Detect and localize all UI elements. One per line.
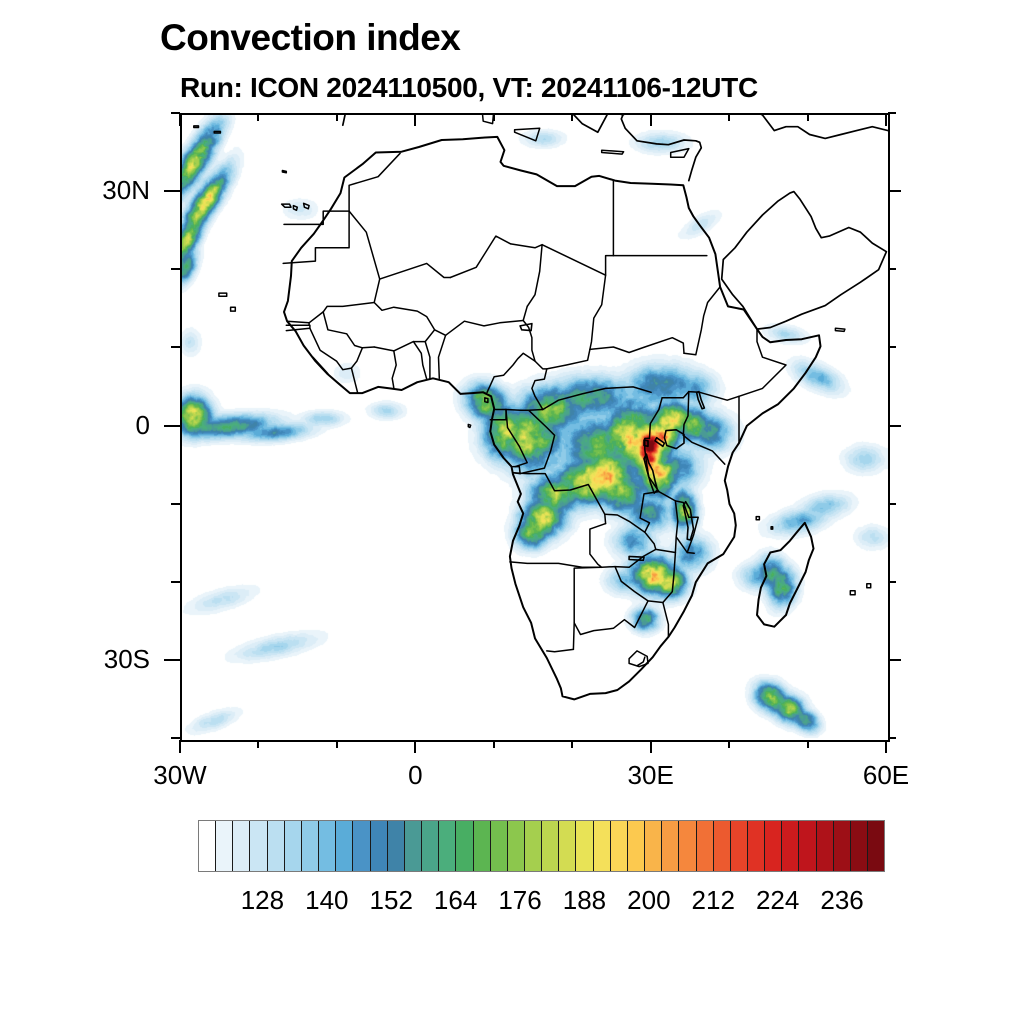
colorbar-cell-33 — [765, 821, 782, 871]
colorbar-cell-9 — [353, 821, 370, 871]
xtick-top-10 — [493, 113, 495, 121]
island-crete — [602, 150, 624, 154]
ytick-right-20 — [888, 268, 896, 270]
ytick-10 — [171, 346, 180, 348]
border-algeria-niger — [450, 236, 510, 277]
xtick-50 — [807, 740, 809, 748]
border-mali-algeria — [380, 263, 451, 279]
colorbar-cell-0 — [199, 821, 216, 871]
xtick-30 — [650, 740, 652, 753]
colorbar-label-212: 212 — [692, 885, 735, 916]
border-libya-chad-sudan — [542, 245, 613, 276]
ytick-right-40 — [888, 112, 896, 114]
xtick-top-20 — [571, 113, 573, 121]
xtick-top--30 — [179, 113, 181, 126]
colorbar-label-224: 224 — [756, 885, 799, 916]
border-benin-nigeria — [439, 335, 446, 378]
border-uganda-s-sudan — [662, 392, 689, 398]
xtick-0 — [414, 740, 416, 753]
colorbar-cell-3 — [250, 821, 267, 871]
border-sa-mozambique-swazi — [663, 603, 669, 637]
colorbar-label-176: 176 — [498, 885, 541, 916]
ytick--10 — [171, 503, 180, 505]
border-car-sudan-drc — [547, 349, 590, 369]
ytick-right--40 — [888, 737, 896, 739]
xtick--10 — [336, 740, 338, 748]
madagascar-coastline — [757, 523, 814, 627]
colorbar-cell-36 — [817, 821, 834, 871]
border-zambia-zimbabwe-moz — [645, 532, 676, 552]
border-botswana-sa — [574, 601, 648, 635]
island-sao-tome — [468, 424, 470, 427]
ytick-right--20 — [888, 581, 896, 583]
ytick--30 — [164, 659, 180, 661]
border-morocco-algeria — [349, 153, 400, 211]
mideast-coastline — [621, 115, 701, 181]
ytick--20 — [171, 581, 180, 583]
y-axis-label-30N: 30N — [102, 175, 150, 206]
colorbar-cell-19 — [525, 821, 542, 871]
border-drc-angola — [513, 473, 606, 524]
colorbar-label-236: 236 — [820, 885, 863, 916]
africa-coastline — [284, 137, 821, 700]
figure-root: Convection index Run: ICON 2024110500, V… — [0, 0, 1024, 1024]
border-kenya-ethiopia-somalia — [689, 392, 739, 444]
colorbar-label-140: 140 — [305, 885, 348, 916]
ytick-right--30 — [888, 659, 901, 661]
border-zimbabwe-moz — [663, 553, 676, 603]
colorbar-cell-4 — [268, 821, 285, 871]
colorbar-cell-35 — [799, 821, 816, 871]
island-azores-2 — [214, 131, 220, 133]
border-sudan-ethiopia — [684, 287, 720, 355]
y-axis-label-30S: 30S — [104, 644, 150, 675]
y-axis-label-0: 0 — [136, 409, 150, 440]
ytick-right--10 — [888, 503, 896, 505]
map-overlay-svg — [182, 115, 888, 740]
border-angola-zambia — [590, 524, 606, 568]
island-comoros-1 — [756, 517, 759, 520]
border-uganda-kenya — [683, 392, 689, 436]
border-gabon-congo — [506, 410, 527, 467]
island-cape-verde-1 — [219, 293, 227, 296]
run-info-subtitle: Run: ICON 2024110500, VT: 20241106-12UTC — [180, 72, 758, 104]
xtick-40 — [728, 740, 730, 748]
xtick-top-40 — [728, 113, 730, 121]
colorbar-cell-21 — [559, 821, 576, 871]
lake-lake-kivu — [644, 440, 648, 446]
arabian-peninsula-coastline — [722, 192, 887, 330]
island-sicily — [515, 128, 540, 141]
border-nigeria-cameroon — [487, 353, 535, 392]
x-axis-label-30W: 30W — [153, 760, 206, 791]
lake-lake-victoria — [664, 430, 684, 449]
colorbar-label-128: 128 — [241, 885, 284, 916]
border-drc-zambia — [605, 492, 659, 533]
colorbar-cell-7 — [319, 821, 336, 871]
border-w-sahara-mauritania — [283, 211, 349, 263]
colorbar-cell-18 — [508, 821, 525, 871]
xtick-top-60 — [885, 113, 887, 126]
colorbar-cell-23 — [594, 821, 611, 871]
ytick-30 — [164, 190, 180, 192]
island-bioko — [485, 398, 488, 403]
border-car-drc — [543, 387, 651, 410]
xtick-60 — [885, 740, 887, 753]
border-sl-coast — [313, 357, 328, 373]
border-liberia-ivory — [351, 368, 357, 393]
colorbar-cell-24 — [611, 821, 628, 871]
border-ghana-togo — [413, 342, 426, 380]
border-drc-uganda — [650, 398, 663, 439]
colorbar-cell-2 — [233, 821, 250, 871]
colorbar-cell-5 — [285, 821, 302, 871]
xtick-top-30 — [650, 113, 652, 126]
island-cape-verde-2 — [231, 307, 236, 311]
colorbar[interactable] — [198, 820, 885, 872]
border-congo-drc — [513, 410, 555, 473]
page-title: Convection index — [160, 17, 460, 59]
xtick-top--20 — [257, 113, 259, 121]
colorbar-cell-29 — [697, 821, 714, 871]
map-plot-area[interactable] — [180, 113, 890, 742]
x-axis-label-60E: 60E — [863, 760, 909, 791]
island-cyprus — [671, 149, 689, 158]
island-reunion — [850, 591, 855, 595]
colorbar-cell-25 — [628, 821, 645, 871]
lake-lake-albert — [655, 438, 664, 447]
colorbar-cell-26 — [645, 821, 662, 871]
colorbar-label-200: 200 — [627, 885, 670, 916]
colorbar-cell-27 — [662, 821, 679, 871]
lake-lake-turkana — [697, 392, 705, 409]
border-senegal-gambia — [287, 312, 323, 323]
island-canary-3 — [304, 203, 310, 209]
colorbar-cell-8 — [336, 821, 353, 871]
ytick-right-0 — [888, 425, 901, 427]
colorbar-cell-11 — [388, 821, 405, 871]
ytick-20 — [171, 268, 180, 270]
colorbar-cell-37 — [834, 821, 851, 871]
border-ethiopia-somalia — [739, 329, 786, 396]
xtick--20 — [257, 740, 259, 748]
colorbar-cell-13 — [422, 821, 439, 871]
border-namibia-sa — [547, 649, 574, 651]
island-madeira — [282, 171, 286, 173]
island-canary-1 — [293, 206, 297, 211]
colorbar-cell-34 — [782, 821, 799, 871]
border-cameroon-chad-car — [532, 361, 547, 409]
colorbar-cell-28 — [679, 821, 696, 871]
border-niger-libya-chad — [511, 244, 542, 307]
colorbar-cell-6 — [302, 821, 319, 871]
colorbar-label-164: 164 — [434, 885, 477, 916]
colorbar-cell-30 — [714, 821, 731, 871]
xtick-top-0 — [414, 113, 416, 126]
island-comoros-2 — [771, 527, 773, 529]
island-mauritius — [867, 584, 871, 588]
colorbar-cell-12 — [405, 821, 422, 871]
island-canary-2 — [282, 204, 291, 207]
border-mauritania-mali — [323, 211, 380, 312]
xtick--30 — [179, 740, 181, 753]
colorbar-cell-1 — [216, 821, 233, 871]
border-sudan-chad — [590, 275, 606, 349]
geography-layer — [194, 115, 888, 699]
ytick-0 — [164, 425, 180, 427]
colorbar-cell-17 — [491, 821, 508, 871]
border-mali-guinea-ivory — [323, 312, 374, 348]
border-guinea-bissau — [286, 325, 310, 330]
ytick-right-30 — [888, 190, 901, 192]
colorbar-cell-22 — [576, 821, 593, 871]
border-niger-nigeria — [446, 321, 524, 336]
colorbar-cell-39 — [868, 821, 884, 871]
border-burkina-south — [374, 330, 434, 351]
xtick-10 — [493, 740, 495, 748]
colorbar-cell-38 — [851, 821, 868, 871]
island-socotra — [835, 328, 845, 331]
colorbar-label-152: 152 — [370, 885, 413, 916]
border-botswana-namibia — [573, 567, 615, 650]
ytick--40 — [171, 737, 180, 739]
border-kenya-tanzania — [683, 435, 725, 464]
border-ivory-ghana — [392, 351, 396, 388]
lake-lake-chad — [520, 324, 532, 331]
x-axis-label-0: 0 — [408, 760, 422, 791]
border-sudan-s-sudan — [590, 338, 684, 354]
colorbar-cell-15 — [456, 821, 473, 871]
island-azores-1 — [194, 126, 199, 128]
border-cameroon-gabon-congo — [494, 410, 543, 411]
xtick-top-50 — [807, 113, 809, 121]
border-angola-namibia — [510, 562, 602, 567]
colorbar-cell-20 — [542, 821, 559, 871]
colorbar-cell-16 — [474, 821, 491, 871]
ytick-40 — [171, 112, 180, 114]
border-togo-benin — [425, 342, 430, 379]
colorbar-cell-32 — [748, 821, 765, 871]
border-chad-niger-nigeria — [523, 306, 535, 361]
colorbar-label-188: 188 — [563, 885, 606, 916]
x-axis-label-30E: 30E — [628, 760, 674, 791]
colorbar-cell-14 — [439, 821, 456, 871]
xtick-top--10 — [336, 113, 338, 121]
colorbar-cell-10 — [371, 821, 388, 871]
xtick-20 — [571, 740, 573, 748]
colorbar-tick-labels: 128140152164176188200212224236 — [198, 885, 885, 919]
colorbar-cell-31 — [731, 821, 748, 871]
ytick-right-10 — [888, 346, 896, 348]
